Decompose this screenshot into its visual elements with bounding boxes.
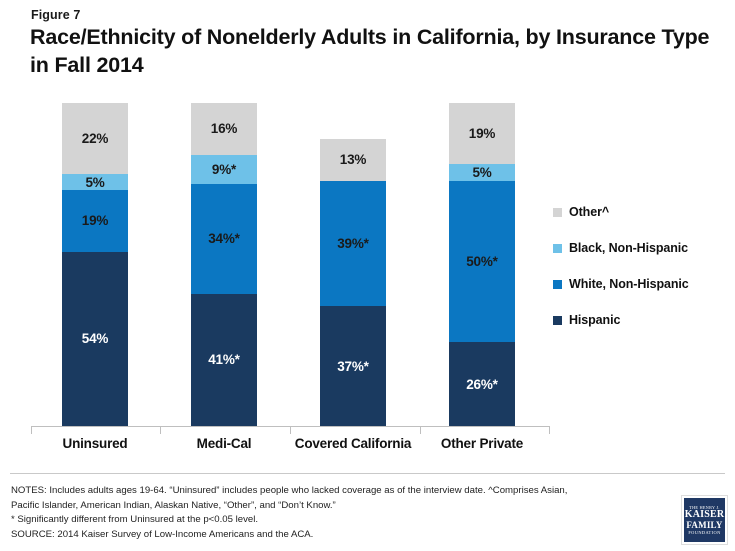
bar-segment[interactable]: 50%* (449, 181, 515, 343)
bar-segment[interactable]: 34%* (191, 184, 257, 294)
logo-line-4: FOUNDATION (688, 530, 720, 535)
axis-tick (160, 427, 161, 434)
legend-label: Other^ (569, 205, 609, 219)
bar-segment[interactable]: 41%* (191, 294, 257, 426)
bar-column[interactable]: 26%*50%*5%19% (449, 103, 515, 426)
bar-segment[interactable]: 19% (62, 190, 128, 251)
bar-segment[interactable]: 26%* (449, 342, 515, 426)
bar-segment[interactable]: 9%* (191, 155, 257, 184)
axis-tick (290, 427, 291, 434)
category-label: Covered California (278, 436, 428, 451)
kaiser-family-foundation-logo: THE HENRY J. KAISER FAMILY FOUNDATION (681, 495, 728, 545)
bar-segment[interactable]: 13% (320, 139, 386, 181)
legend-label: Hispanic (569, 313, 620, 327)
notes-line-1: NOTES: Includes adults ages 19-64. “Unin… (11, 484, 666, 499)
notes-line-3: * Significantly different from Uninsured… (11, 513, 666, 528)
axis-tick (420, 427, 421, 434)
bar-column[interactable]: 37%*39%*13% (320, 139, 386, 426)
logo-line-2: KAISER (685, 510, 725, 521)
bar-segment[interactable]: 37%* (320, 306, 386, 426)
category-label: Uninsured (20, 436, 170, 451)
bar-segment[interactable]: 5% (449, 164, 515, 180)
logo-line-3: FAMILY (686, 521, 722, 530)
legend-swatch-other-icon (553, 208, 562, 217)
legend-item-white-non-hispanic[interactable]: White, Non-Hispanic (553, 266, 689, 302)
footer-notes: NOTES: Includes adults ages 19-64. “Unin… (11, 484, 666, 542)
bar-segment[interactable]: 16% (191, 103, 257, 155)
bar-segment[interactable]: 22% (62, 103, 128, 174)
legend-swatch-black-non-hispanic-icon (553, 244, 562, 253)
logo-inner: THE HENRY J. KAISER FAMILY FOUNDATION (684, 498, 725, 542)
bar-column[interactable]: 54%19%5%22% (62, 103, 128, 426)
bar-segment[interactable]: 54% (62, 252, 128, 426)
legend-swatch-hispanic-icon (553, 316, 562, 325)
category-label: Medi-Cal (149, 436, 299, 451)
category-label: Other Private (407, 436, 557, 451)
bar-segment[interactable]: 39%* (320, 181, 386, 307)
legend-swatch-white-non-hispanic-icon (553, 280, 562, 289)
axis-tick (549, 427, 550, 434)
footer-divider (10, 473, 725, 474)
legend-item-black-non-hispanic[interactable]: Black, Non-Hispanic (553, 230, 689, 266)
legend-item-hispanic[interactable]: Hispanic (553, 302, 689, 338)
chart-legend: Other^ Black, Non-Hispanic White, Non-Hi… (553, 194, 689, 338)
bar-segment[interactable]: 5% (62, 174, 128, 190)
notes-line-2: Pacific Islander, American Indian, Alask… (11, 499, 666, 514)
legend-label: Black, Non-Hispanic (569, 241, 688, 255)
bar-column[interactable]: 41%*34%*9%*16% (191, 103, 257, 426)
notes-line-4: SOURCE: 2014 Kaiser Survey of Low-Income… (11, 528, 666, 543)
legend-label: White, Non-Hispanic (569, 277, 689, 291)
bar-segment[interactable]: 19% (449, 103, 515, 164)
axis-tick (31, 427, 32, 434)
legend-item-other[interactable]: Other^ (553, 194, 689, 230)
